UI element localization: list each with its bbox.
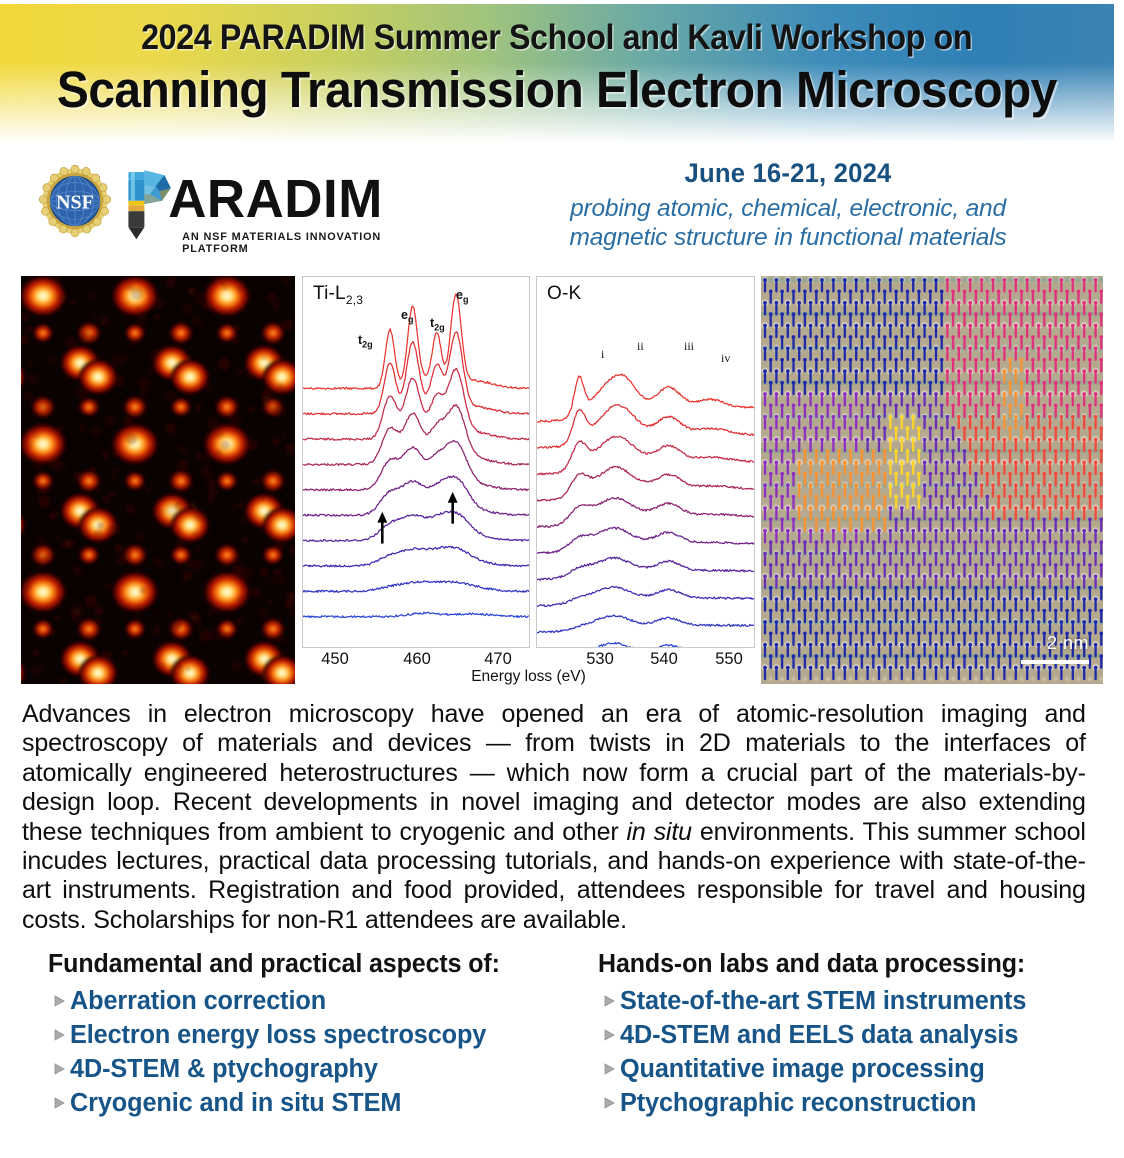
- list-item[interactable]: Electron energy loss spectroscopy: [48, 1018, 568, 1052]
- tick-540: 540: [650, 650, 678, 669]
- eels-ok-panel-label: O-K: [547, 283, 581, 305]
- bullet-label: Electron energy loss spectroscopy: [70, 1021, 486, 1050]
- column-heading-handson: Hands-on labs and data processing:: [598, 950, 1088, 979]
- list-item[interactable]: Ptychographic reconstruction: [598, 1086, 1098, 1120]
- peak-label-t2g-1: t2g: [358, 333, 373, 350]
- paradim-tagline: AN NSF MATERIALS INNOVATION PLATFORM: [182, 231, 450, 255]
- triangle-right-icon: [48, 995, 70, 1007]
- nsf-seal-icon: NSF: [38, 164, 112, 238]
- eels-figure: Ti-L2,3 t2g eg t2g eg O-K i ii iii iv 45…: [302, 276, 755, 684]
- bullet-label: State-of-the-art STEM instruments: [620, 987, 1026, 1016]
- paradim-logo: ARADIM AN NSF MATERIALS INNOVATION PLATF…: [118, 158, 454, 250]
- header-banner: 2024 PARADIM Summer School and Kavli Wor…: [0, 4, 1114, 143]
- poster-title-line-1: 2024 PARADIM Summer School and Kavli Wor…: [141, 20, 972, 55]
- tick-460: 460: [403, 650, 431, 669]
- bullet-list-fundamentals: Aberration correction Electron energy lo…: [48, 984, 568, 1120]
- triangle-right-icon: [48, 1097, 70, 1109]
- eels-ti-spectra-plot: [303, 277, 529, 647]
- peak-label-ii: ii: [637, 339, 644, 354]
- stem-image-canvas: [21, 276, 295, 684]
- figure-strip: Ti-L2,3 t2g eg t2g eg O-K i ii iii iv 45…: [0, 274, 1124, 686]
- stem-atomic-image: [21, 276, 295, 684]
- topics-column-handson: Hands-on labs and data processing: State…: [598, 950, 1098, 1120]
- bullet-label: Ptychographic reconstruction: [620, 1089, 976, 1118]
- scalebar-line: [1021, 660, 1089, 664]
- tick-550: 550: [715, 650, 743, 669]
- peak-label-eg-1: eg: [401, 308, 413, 325]
- event-date: June 16-21, 2024: [494, 158, 1083, 189]
- scalebar-label: 2 nm: [1047, 633, 1089, 654]
- peak-label-iii: iii: [684, 339, 694, 354]
- logo-and-date-row: NSF ARADIM: [0, 150, 1124, 270]
- event-tagline: probing atomic, chemical, electronic, an…: [478, 194, 1098, 253]
- triangle-right-icon: [598, 1029, 620, 1041]
- triangle-right-icon: [48, 1029, 70, 1041]
- triangle-right-icon: [48, 1063, 70, 1075]
- bullet-label: 4D-STEM & ptychography: [70, 1055, 378, 1084]
- tick-530: 530: [586, 650, 614, 669]
- tick-450: 450: [321, 650, 349, 669]
- eels-xaxis-title: Energy loss (eV): [302, 668, 755, 686]
- peak-label-iv: iv: [721, 351, 730, 366]
- bullet-list-handson: State-of-the-art STEM instruments 4D-STE…: [598, 984, 1098, 1120]
- event-tagline-line-1: probing atomic, chemical, electronic, an…: [478, 194, 1098, 223]
- triangle-right-icon: [598, 995, 620, 1007]
- nsf-logo-text: NSF: [56, 191, 94, 213]
- topics-columns: Fundamental and practical aspects of: Ab…: [0, 950, 1124, 1140]
- tick-470: 470: [484, 650, 512, 669]
- triangle-right-icon: [598, 1063, 620, 1075]
- list-item[interactable]: State-of-the-art STEM instruments: [598, 984, 1098, 1018]
- bullet-label: 4D-STEM and EELS data analysis: [620, 1021, 1018, 1050]
- peak-label-eg-2: eg: [456, 288, 468, 305]
- paradim-wordmark: ARADIM: [168, 172, 383, 226]
- list-item[interactable]: 4D-STEM and EELS data analysis: [598, 1018, 1098, 1052]
- bullet-label: Quantitative image processing: [620, 1055, 985, 1084]
- bullet-label: Aberration correction: [70, 987, 326, 1016]
- eels-ok-spectra-plot: [537, 277, 754, 647]
- poster-title-line-2: Scanning Transmission Electron Microscop…: [57, 62, 1057, 117]
- peak-label-t2g-2: t2g: [430, 316, 445, 333]
- event-dateblock: June 16-21, 2024 probing atomic, chemica…: [478, 158, 1098, 253]
- topics-column-fundamentals: Fundamental and practical aspects of: Ab…: [48, 950, 568, 1120]
- peak-label-i: i: [601, 347, 604, 362]
- lattice-map-canvas: [761, 276, 1103, 684]
- lattice-map-image: 2 nm: [761, 276, 1103, 684]
- poster-root: 2024 PARADIM Summer School and Kavli Wor…: [0, 0, 1124, 1158]
- eels-ti-panel-label: Ti-L2,3: [313, 283, 363, 307]
- triangle-right-icon: [598, 1097, 620, 1109]
- list-item[interactable]: Quantitative image processing: [598, 1052, 1098, 1086]
- list-item[interactable]: 4D-STEM & ptychography: [48, 1052, 568, 1086]
- event-tagline-line-2: magnetic structure in functional materia…: [478, 223, 1098, 252]
- bullet-label: Cryogenic and in situ STEM: [70, 1089, 401, 1118]
- list-item[interactable]: Cryogenic and in situ STEM: [48, 1086, 568, 1120]
- description-paragraph: Advances in electron microscopy have ope…: [22, 700, 1086, 935]
- nsf-logo: NSF: [38, 164, 112, 238]
- paradim-crystal-icon: [118, 158, 174, 250]
- eels-panel-ti: Ti-L2,3 t2g eg t2g eg: [302, 276, 530, 648]
- description-italic-in-situ: in situ: [626, 818, 691, 846]
- column-heading-fundamentals: Fundamental and practical aspects of:: [48, 950, 558, 979]
- list-item[interactable]: Aberration correction: [48, 984, 568, 1018]
- eels-panel-ok: O-K i ii iii iv: [536, 276, 755, 648]
